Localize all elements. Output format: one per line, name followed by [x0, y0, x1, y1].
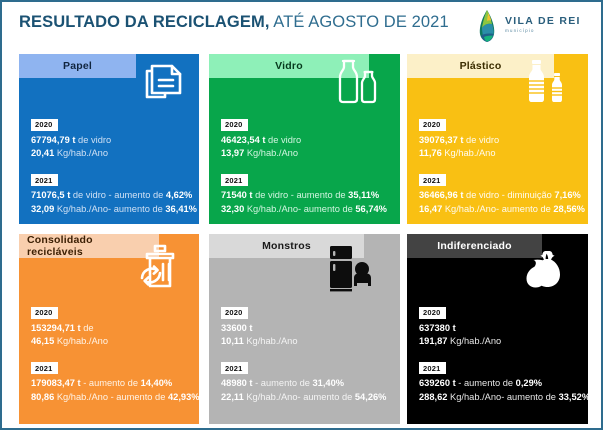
card-monstros-2020: 2020 33600 t 10,11 Kg/hab./Ano: [221, 302, 386, 349]
value: 32,09: [31, 204, 54, 214]
unit: Kg/hab./Ano - aumento de: [54, 392, 168, 402]
card-consolidado-2021-kg: 80,86 Kg/hab./Ano - aumento de 42,93%: [31, 391, 199, 405]
value: 20,41: [31, 148, 54, 158]
card-papel[interactable]: Papel 2020 67794,79 t de vidro 20,41 Kg/…: [19, 54, 199, 224]
card-vidro-2021: 2021 71540 t de vidro - aumento de 35,11…: [221, 170, 387, 217]
value: 16,47: [419, 204, 442, 214]
card-indiferenciado-2021: 2021 639260 t - aumento de 0,29% 288,62 …: [419, 358, 588, 405]
card-monstros-stats: 2020 33600 t 10,11 Kg/hab./Ano 2021 4898…: [221, 302, 386, 404]
unit: - aumento de: [456, 378, 516, 388]
card-monstros[interactable]: Monstros 2020 33600 t 10,11 Kg/hab./Ano …: [209, 234, 400, 424]
year-badge-2021: 2021: [419, 174, 446, 186]
value: 288,62: [419, 392, 447, 402]
unit: - aumento de: [253, 378, 313, 388]
year-badge-2021: 2021: [221, 362, 248, 374]
percent: 54,26%: [355, 392, 387, 402]
value: 46423,54 t: [221, 135, 265, 145]
percent: 4,62%: [166, 190, 192, 200]
value: 11,76: [419, 148, 442, 158]
year-badge-2020: 2020: [419, 119, 446, 131]
year-badge-2020: 2020: [31, 119, 58, 131]
card-plastico-2021-kg: 16,47 Kg/hab./Ano- aumento de 28,56%: [419, 203, 585, 217]
card-monstros-2020-kg: 10,11 Kg/hab./Ano: [221, 335, 386, 349]
value: 46,15: [31, 336, 54, 346]
card-consolidado-2020-tons: 153294,71 t de: [31, 322, 199, 336]
logo-name: VILA DE REI: [505, 15, 581, 27]
card-monstros-2021-kg: 22,11 Kg/hab./Ano- aumento de 54,26%: [221, 391, 386, 405]
unit: de vidro: [463, 135, 499, 145]
card-vidro-2021-tons: 71540 t de vidro - aumento de 35,11%: [221, 189, 387, 203]
value: 71076,5 t: [31, 190, 70, 200]
unit: Kg/hab./Ano- aumento de: [244, 204, 355, 214]
unit: Kg/hab./Ano- aumento de: [442, 204, 553, 214]
year-badge-2020: 2020: [31, 307, 58, 319]
vila-de-rei-tree-logo-icon: [473, 9, 501, 43]
card-indiferenciado-2021-tons: 639260 t - aumento de 0,29%: [419, 377, 588, 391]
unit: de vidro: [265, 135, 301, 145]
value: 13,97: [221, 148, 244, 158]
unit: Kg/hab./Ano- aumento de: [54, 204, 165, 214]
card-monstros-2021: 2021 48980 t - aumento de 31,40% 22,11 K…: [221, 358, 386, 405]
year-badge-2021: 2021: [31, 174, 58, 186]
card-vidro-stats: 2020 46423,54 t de vidro 13,97 Kg/hab./A…: [221, 114, 387, 216]
value: 36466,96 t: [419, 190, 463, 200]
card-vidro[interactable]: Vidro 2020 46423,54 t de vidro 13,97 Kg/…: [209, 54, 400, 224]
unit: - aumento de: [81, 378, 141, 388]
card-vidro-2020-tons: 46423,54 t de vidro: [221, 134, 387, 148]
unit: de vidro - diminuição: [463, 190, 554, 200]
page-title-bold: RESULTADO DA RECICLAGEM,: [19, 13, 270, 31]
header: RESULTADO DA RECICLAGEM, ATÉ AGOSTO DE 2…: [2, 2, 601, 46]
card-plastico-stats: 2020 39076,37 t de vidro 11,76 Kg/hab./A…: [419, 114, 585, 216]
year-badge-2021: 2021: [221, 174, 248, 186]
card-papel-2021: 2021 71076,5 t de vidro - aumento de 4,6…: [31, 170, 197, 217]
unit: de: [81, 323, 94, 333]
card-papel-2020: 2020 67794,79 t de vidro 20,41 Kg/hab./A…: [31, 114, 197, 161]
card-plastico-2021: 2021 36466,96 t de vidro - diminuição 7,…: [419, 170, 585, 217]
value: 67794,79 t: [31, 135, 75, 145]
value: 71540 t: [221, 190, 253, 200]
documents-icon: [139, 57, 191, 105]
percent: 0,29%: [516, 378, 542, 388]
card-plastico-2021-tons: 36466,96 t de vidro - diminuição 7,16%: [419, 189, 585, 203]
percent: 42,93%: [168, 392, 199, 402]
percent: 56,74%: [355, 204, 387, 214]
year-badge-2020: 2020: [419, 307, 446, 319]
card-papel-2021-kg: 32,09 Kg/hab./Ano- aumento de 36,41%: [31, 203, 197, 217]
logo-text: VILA DE REI município: [505, 15, 581, 33]
card-papel-2020-kg: 20,41 Kg/hab./Ano: [31, 147, 197, 161]
value: 33600 t: [221, 323, 253, 333]
card-monstros-2020-tons: 33600 t: [221, 322, 386, 336]
garbage-bags-icon: [518, 242, 576, 292]
card-indiferenciado-2020: 2020 637380 t 191,87 Kg/hab./Ano: [419, 302, 588, 349]
card-papel-header: Papel: [19, 54, 136, 78]
percent: 7,16%: [554, 190, 580, 200]
card-vidro-2020: 2020 46423,54 t de vidro 13,97 Kg/hab./A…: [221, 114, 387, 161]
value: 48980 t: [221, 378, 253, 388]
unit: Kg/hab./Ano: [244, 336, 298, 346]
value: 153294,71 t: [31, 323, 81, 333]
card-papel-stats: 2020 67794,79 t de vidro 20,41 Kg/hab./A…: [31, 114, 197, 216]
unit: Kg/hab./Ano: [447, 336, 501, 346]
unit: Kg/hab./Ano: [442, 148, 496, 158]
unit: Kg/hab./Ano: [54, 336, 108, 346]
logo: VILA DE REI município: [473, 8, 591, 44]
value: 22,11: [221, 392, 244, 402]
card-papel-2021-tons: 71076,5 t de vidro - aumento de 4,62%: [31, 189, 197, 203]
card-indiferenciado-2021-kg: 288,62 Kg/hab./Ano- aumento de 33,52%: [419, 391, 588, 405]
unit: Kg/hab./Ano: [244, 148, 298, 158]
percent: 35,11%: [348, 190, 379, 200]
infographic-page: RESULTADO DA RECICLAGEM, ATÉ AGOSTO DE 2…: [0, 0, 603, 430]
unit: Kg/hab./Ano- aumento de: [447, 392, 558, 402]
page-title-light: ATÉ AGOSTO DE 2021: [270, 13, 449, 31]
value: 39076,37 t: [419, 135, 463, 145]
card-consolidado-2020: 2020 153294,71 t de 46,15 Kg/hab./Ano: [31, 302, 199, 349]
value: 637380 t: [419, 323, 456, 333]
bulky-waste-icon: [324, 242, 380, 294]
value: 639260 t: [419, 378, 456, 388]
value: 32,30: [221, 204, 244, 214]
recycle-bin-icon: [133, 242, 189, 294]
card-monstros-2021-tons: 48980 t - aumento de 31,40%: [221, 377, 386, 391]
plastic-bottles-icon: [522, 57, 572, 107]
card-indiferenciado[interactable]: Indiferenciado 2020 637380 t 191,87 Kg/h…: [407, 234, 588, 424]
card-consolidado-2021: 2021 179083,47 t - aumento de 14,40% 80,…: [31, 358, 199, 405]
card-consolidado-stats: 2020 153294,71 t de 46,15 Kg/hab./Ano 20…: [31, 302, 199, 404]
percent: 14,40%: [141, 378, 173, 388]
percent: 33,52%: [559, 392, 588, 402]
value: 10,11: [221, 336, 244, 346]
percent: 31,40%: [313, 378, 345, 388]
card-indiferenciado-stats: 2020 637380 t 191,87 Kg/hab./Ano 2021 63…: [419, 302, 588, 404]
value: 191,87: [419, 336, 447, 346]
card-consolidado-2021-tons: 179083,47 t - aumento de 14,40%: [31, 377, 199, 391]
card-papel-2020-tons: 67794,79 t de vidro: [31, 134, 197, 148]
percent: 36,41%: [165, 204, 197, 214]
unit: Kg/hab./Ano- aumento de: [244, 392, 355, 402]
percent: 28,56%: [553, 204, 585, 214]
card-plastico[interactable]: Plástico 2020 39076,37 t de vidro 11,76 …: [407, 54, 588, 224]
card-vidro-2021-kg: 32,30 Kg/hab./Ano- aumento de 56,74%: [221, 203, 387, 217]
card-plastico-2020-kg: 11,76 Kg/hab./Ano: [419, 147, 585, 161]
value: 80,86: [31, 392, 54, 402]
year-badge-2021: 2021: [419, 362, 446, 374]
glass-bottles-icon: [332, 57, 384, 107]
year-badge-2021: 2021: [31, 362, 58, 374]
year-badge-2020: 2020: [221, 307, 248, 319]
logo-subtitle: município: [505, 28, 581, 33]
card-consolidado-2020-kg: 46,15 Kg/hab./Ano: [31, 335, 199, 349]
card-papel-label: Papel: [19, 54, 136, 78]
card-indiferenciado-2020-tons: 637380 t: [419, 322, 588, 336]
unit: Kg/hab./Ano: [54, 148, 108, 158]
card-vidro-2020-kg: 13,97 Kg/hab./Ano: [221, 147, 387, 161]
unit: de vidro: [75, 135, 111, 145]
year-badge-2020: 2020: [221, 119, 248, 131]
page-title: RESULTADO DA RECICLAGEM, ATÉ AGOSTO DE 2…: [19, 13, 449, 32]
value: 179083,47 t: [31, 378, 81, 388]
card-indiferenciado-2020-kg: 191,87 Kg/hab./Ano: [419, 335, 588, 349]
card-plastico-2020: 2020 39076,37 t de vidro 11,76 Kg/hab./A…: [419, 114, 585, 161]
card-plastico-2020-tons: 39076,37 t de vidro: [419, 134, 585, 148]
unit: de vidro - aumento de: [253, 190, 349, 200]
unit: de vidro - aumento de: [70, 190, 166, 200]
card-consolidado-reciclaveis[interactable]: Consolidado recicláveis 2020 153294,71 t…: [19, 234, 199, 424]
